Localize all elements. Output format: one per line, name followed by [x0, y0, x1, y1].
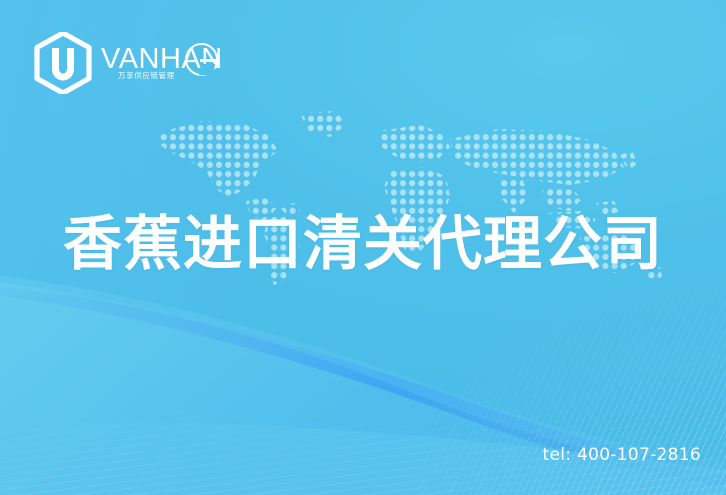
promo-banner: VANHAN 万享供应链管理 香蕉进口清关代理公司 tel: 400-107-2…: [0, 0, 726, 495]
brand-g-ring-icon: [185, 43, 218, 76]
vanhang-hexagon-icon: [34, 32, 92, 94]
page-title: 香蕉进口清关代理公司: [0, 214, 726, 273]
brand-subtitle: 万享供应链管理: [118, 70, 175, 81]
brand-wordmark: VANHAN 万享供应链管理: [101, 41, 221, 85]
contact-phone[interactable]: tel: 400-107-2816: [542, 445, 701, 465]
brand-logo[interactable]: VANHAN 万享供应链管理: [34, 33, 221, 93]
